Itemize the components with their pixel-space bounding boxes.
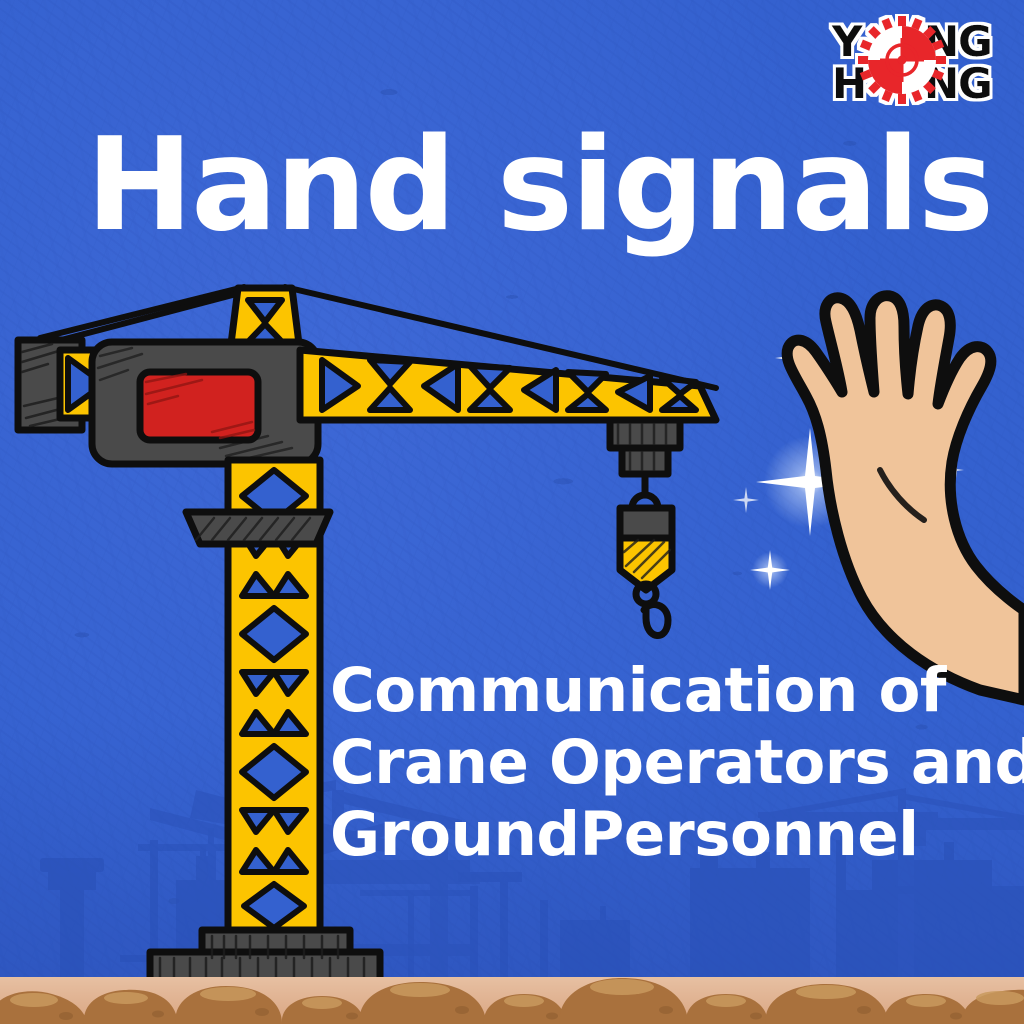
brand-logo[interactable]: Y NG H NG	[826, 14, 1006, 106]
subtitle-line-2: Crane Operators and	[330, 727, 1024, 799]
cab-window	[140, 372, 258, 440]
operator-cab	[92, 342, 318, 464]
hook	[636, 584, 668, 636]
mast-collar-platform	[186, 512, 330, 544]
hook-block	[620, 495, 672, 590]
page-subtitle: Communication of Crane Operators and Gro…	[330, 655, 1024, 871]
poster-canvas: Hand signals Communication of Crane Oper…	[0, 0, 1024, 1024]
subtitle-line-1: Communication of	[330, 655, 1024, 727]
page-title: Hand signals	[86, 122, 992, 250]
subtitle-line-3: GroundPersonnel	[330, 799, 1024, 871]
ground-band	[0, 977, 1024, 1024]
logo-line2-lead: H	[832, 59, 867, 106]
logo-wordmark: Y NG H NG	[831, 16, 992, 106]
gear-target-icon	[858, 16, 946, 104]
main-jib-lattice	[300, 350, 716, 420]
trolley	[610, 420, 680, 474]
